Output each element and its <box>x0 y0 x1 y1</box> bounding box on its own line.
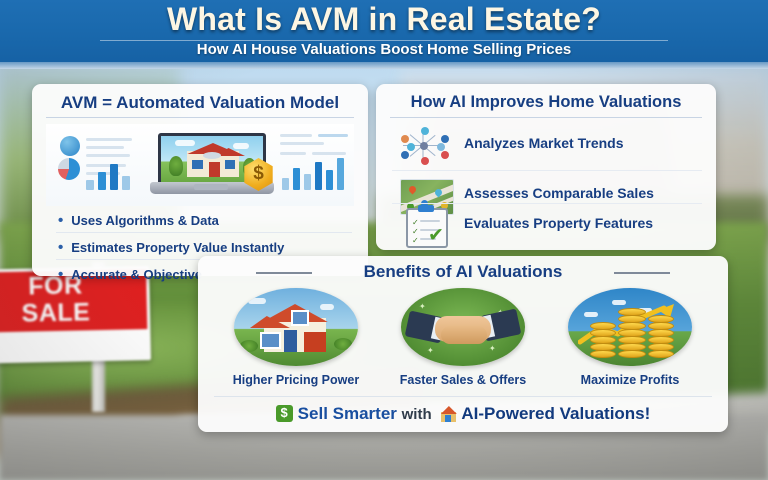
bar <box>315 162 322 190</box>
bar <box>304 174 311 190</box>
ai-row-label-1: Analyzes Market Trends <box>464 135 624 151</box>
benefit-item-higher-pricing-power[interactable]: Higher Pricing Power <box>216 288 376 387</box>
avm-bullet-divider <box>56 232 352 233</box>
avm-card-title: AVM = Automated Valuation Model <box>32 93 368 113</box>
bar <box>98 172 106 190</box>
benefit-label-1: Higher Pricing Power <box>216 373 376 387</box>
bar <box>282 178 289 190</box>
ai-row-analyzes-market-trends[interactable]: Analyzes Market Trends <box>392 124 704 168</box>
neural-network-icon <box>398 126 454 166</box>
benefit-label-3: Maximize Profits <box>550 373 710 387</box>
chart-line <box>280 142 324 145</box>
house-icon <box>439 406 458 422</box>
clipboard-checklist-icon: ✓ ✓ ✓ ✔ <box>398 206 454 246</box>
house-door <box>209 162 220 177</box>
house-accent <box>203 152 221 159</box>
bar <box>122 176 130 190</box>
left-analytics-graphic <box>52 130 138 196</box>
bar <box>326 170 333 190</box>
avm-bullet-1: Uses Algorithms & Data <box>58 212 219 229</box>
chart-line <box>86 164 126 167</box>
ai-row-label-2: Assesses Comparable Sales <box>464 185 654 201</box>
cloud-shape <box>233 143 249 149</box>
chart-line <box>312 152 346 155</box>
avm-bullet-3: Accurate & Objective <box>58 266 202 283</box>
benefit-item-maximize-profits[interactable]: Maximize Profits <box>550 288 710 387</box>
benefit-item-faster-sales-offers[interactable]: ✦ ✦ ✦ ✦ Faster Sales & Offers <box>383 288 543 387</box>
right-analytics-graphic <box>278 130 352 196</box>
benefit-label-2: Faster Sales & Offers <box>383 373 543 387</box>
bar <box>86 180 94 190</box>
coins-growth-oval-icon <box>568 288 692 366</box>
chart-line <box>86 154 130 157</box>
page-subtitle: How AI House Valuations Boost Home Selli… <box>0 41 768 58</box>
chart-line <box>318 134 348 137</box>
cta-divider <box>214 396 712 397</box>
laptop-trackpad <box>194 184 228 190</box>
cta-banner[interactable]: Sell Smarter with AI-Powered Valuations! <box>198 404 728 424</box>
green-check-icon: ✔ <box>428 228 450 244</box>
money-bag-icon <box>276 405 293 422</box>
ai-row-label-3: Evaluates Property Features <box>464 215 653 231</box>
avm-card-divider <box>46 117 354 118</box>
ai-row-evaluates-property-features[interactable]: ✓ ✓ ✓ ✔ Evaluates Property Features <box>392 204 704 248</box>
avm-bullet-2: Estimates Property Value Instantly <box>58 239 284 256</box>
cta-part-3: AI-Powered Valuations! <box>461 404 650 423</box>
chart-line <box>86 146 124 149</box>
chart-line <box>280 152 306 155</box>
benefits-title-dash-right <box>614 272 670 274</box>
cta-part-1: Sell Smarter <box>298 404 397 423</box>
handshake-oval-icon: ✦ ✦ ✦ ✦ <box>401 288 525 366</box>
laptop-house-valuation-illustration: $ <box>46 124 354 206</box>
bar <box>293 168 300 190</box>
chart-line <box>86 138 132 141</box>
avm-definition-card: AVM = Automated Valuation Model <box>32 84 368 276</box>
ai-card-divider <box>390 117 702 118</box>
bar <box>337 158 344 190</box>
pie-chart-icon <box>58 158 80 180</box>
infographic-canvas: FOR SALE What Is AVM in Real Estate? How… <box>0 0 768 480</box>
bar <box>110 164 118 190</box>
page-title: What Is AVM in Real Estate? <box>0 1 768 38</box>
house-window <box>225 160 235 169</box>
house-oval-icon <box>234 288 358 366</box>
chart-line <box>280 134 312 137</box>
ai-improvements-card: How AI Improves Home Valuations <box>376 84 716 250</box>
cta-part-2: with <box>402 406 432 423</box>
benefits-card: Benefits of AI Valuations Higher Pricing… <box>198 256 728 432</box>
tree-shape <box>169 156 183 176</box>
ai-row-divider <box>392 170 702 171</box>
globe-icon <box>60 136 80 156</box>
header-band: What Is AVM in Real Estate? How AI House… <box>0 0 768 69</box>
cloud-shape <box>175 140 195 146</box>
ai-card-title: How AI Improves Home Valuations <box>376 93 716 112</box>
house-window <box>192 160 203 169</box>
